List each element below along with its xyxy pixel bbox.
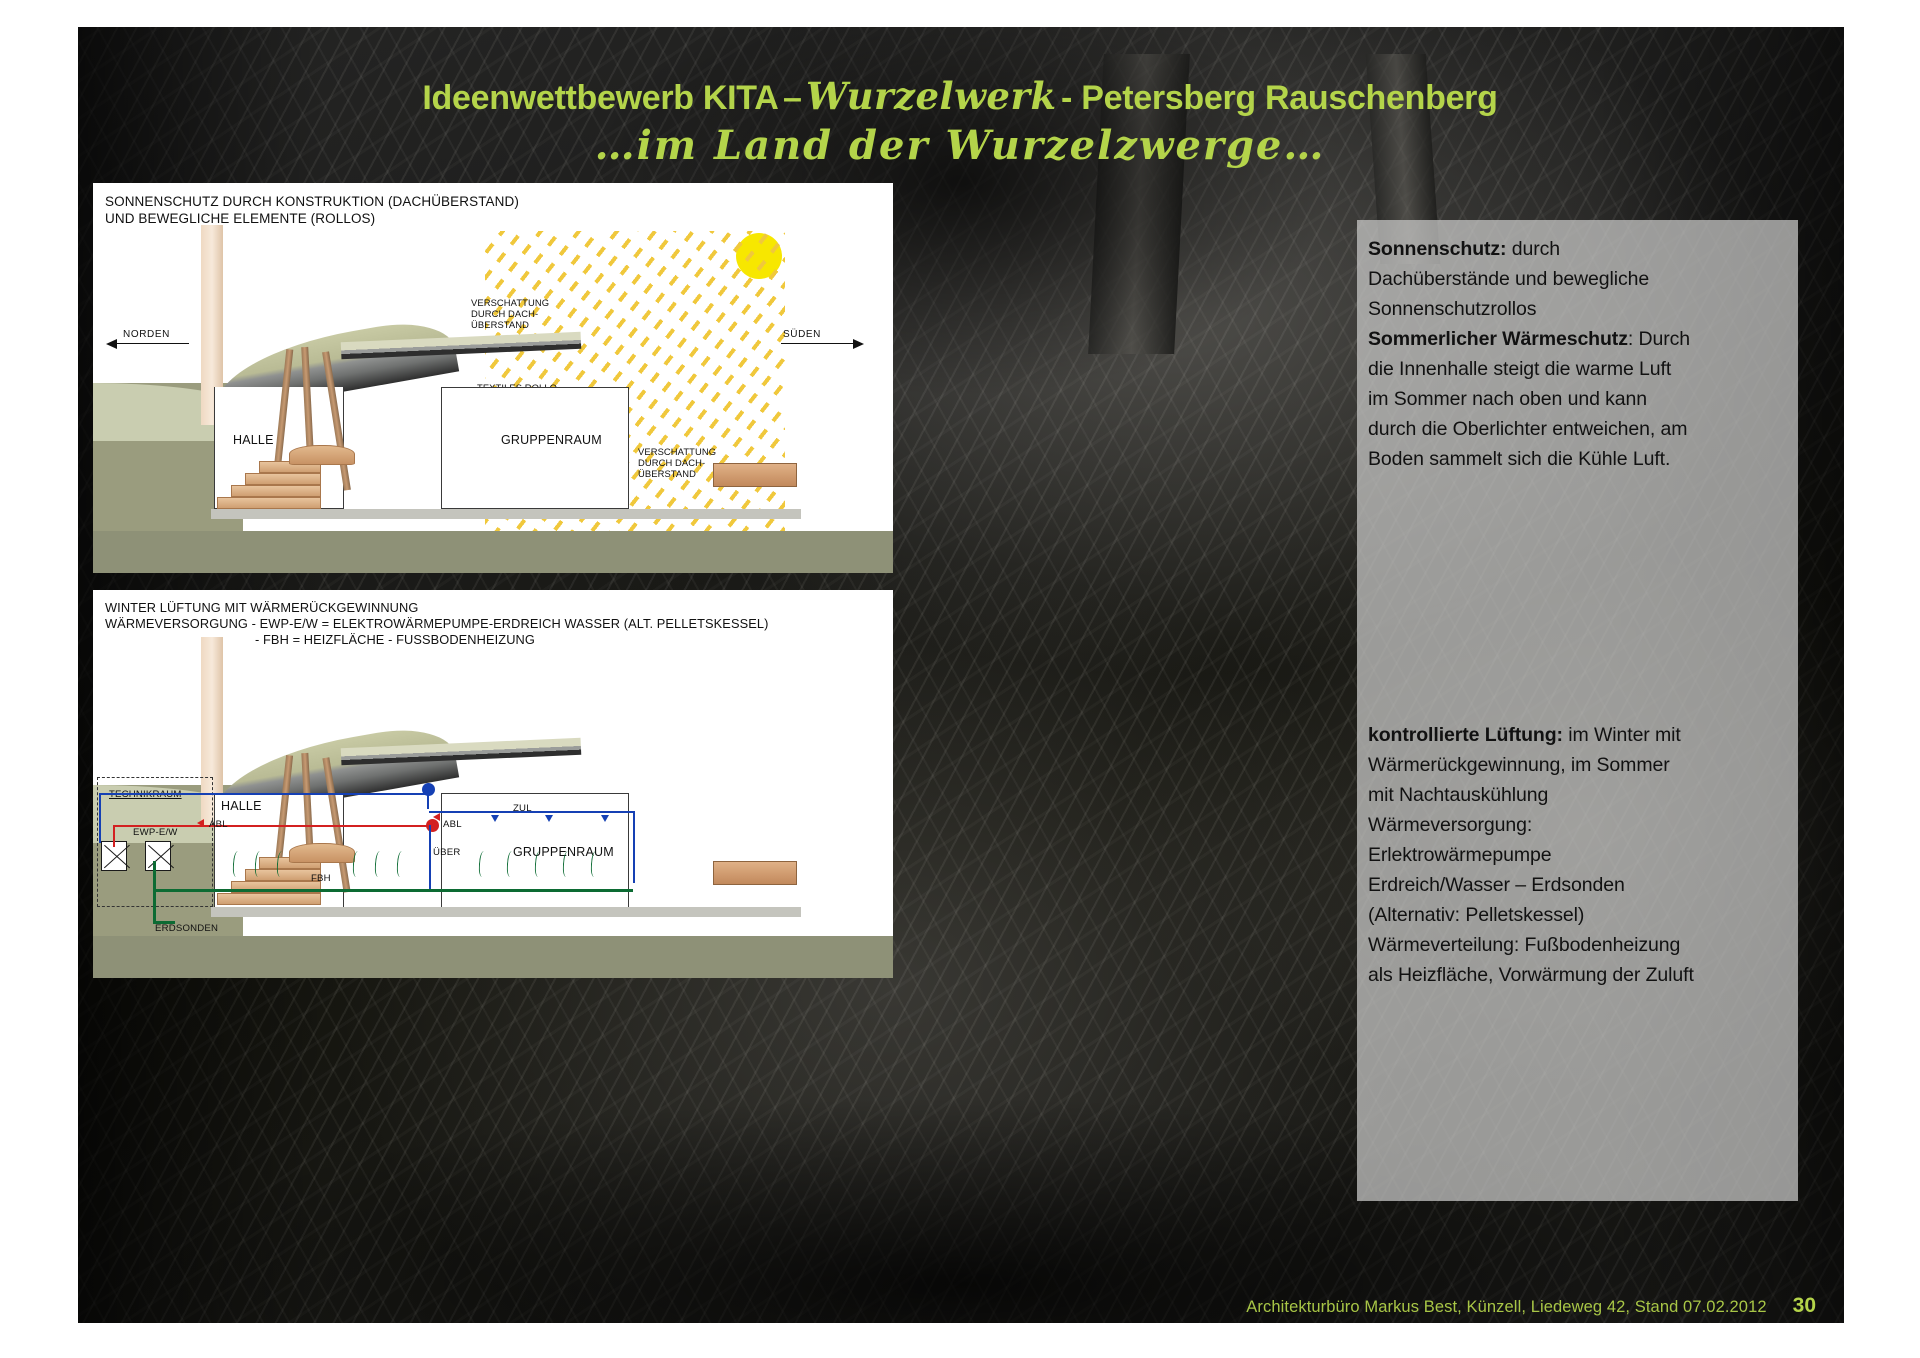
text-line: Sommerlicher Wärmeschutz: Durch	[1368, 324, 1798, 354]
compass-label-south: SÜDEN	[783, 329, 821, 340]
slide-title: Ideenwettbewerb KITA – Wurzelwerk - Pete…	[0, 74, 1920, 118]
text-line: mit Nachtauskühlung	[1368, 780, 1798, 810]
convection-squiggle-icon	[374, 851, 385, 877]
room-label-halle: HALLE	[221, 799, 262, 813]
outdoor-bench	[713, 463, 797, 487]
outdoor-bench	[713, 861, 797, 885]
title-main-part-1: Ideenwettbewerb KITA	[422, 79, 778, 117]
text-block-lueftung: kontrollierte Lüftung: im Winter mitWärm…	[1368, 720, 1798, 990]
text-block-sonnenschutz: Sonnenschutz: durchDachüberstände und be…	[1368, 234, 1798, 474]
diagram-bottom-heading-line-1: WINTER LÜFTUNG MIT WÄRMERÜCKGEWINNUNG	[105, 600, 418, 615]
subtitle-text: …im Land der Wurzelzwerge…	[595, 122, 1326, 169]
text-line: Sonnenschutz: durch	[1368, 234, 1798, 264]
pipe-supply-duct-top	[429, 811, 635, 813]
pipe-exhaust-vertical	[99, 793, 101, 843]
pipe-ground-loop-vertical	[153, 861, 156, 923]
label-fbh: FBH	[311, 873, 331, 884]
pipe-supply-duct-down	[633, 811, 635, 883]
diagram-bottom-heading-line-3: - FBH = HEIZFLÄCHE - FUSSBODENHEIZUNG	[105, 632, 535, 648]
text-line: Wärmeversorgung:	[1368, 810, 1798, 840]
ground-strip	[93, 531, 893, 573]
text-line: als Heizfläche, Vorwärmung der Zuluft	[1368, 960, 1798, 990]
ground-strip	[93, 936, 893, 978]
label-ewp: EWP-E/W	[133, 827, 178, 838]
heat-exchanger-unit-icon	[145, 841, 171, 871]
section-scene-bottom: HALLE GRUPPENRAUM TECHNIKRAUM EWP-E/W	[93, 785, 893, 978]
arrow-supply-down-icon	[601, 815, 609, 822]
text-line-emphasis: kontrollierte Lüftung:	[1368, 724, 1563, 746]
text-line: Erlektrowärmepumpe	[1368, 840, 1798, 870]
label-ueber: ÜBER	[433, 847, 460, 858]
title-main-part-2: - Petersberg Rauschenberg	[1061, 79, 1498, 117]
text-line: Wärmerückgewinnung, im Sommer	[1368, 750, 1798, 780]
label-zul: ZUL	[513, 803, 532, 814]
node-exhaust-point	[422, 783, 435, 796]
text-line: kontrollierte Lüftung: im Winter mit	[1368, 720, 1798, 750]
arrow-supply-down-icon	[545, 815, 553, 822]
south-arrow-icon	[781, 343, 853, 344]
pipe-heating-riser	[113, 825, 115, 847]
text-block-1-body: Sonnenschutz: durchDachüberstände und be…	[1368, 234, 1798, 474]
slide-root: Ideenwettbewerb KITA – Wurzelwerk - Pete…	[0, 0, 1920, 1358]
slide-subtitle: …im Land der Wurzelzwerge…	[0, 122, 1920, 169]
text-line-emphasis: Sonnenschutz:	[1368, 238, 1506, 260]
room-label-halle: HALLE	[233, 433, 274, 447]
label-shading-roof-overhang-left: VERSCHATTUNG DURCH DACH- ÜBERSTAND	[471, 297, 549, 330]
north-arrow-icon	[117, 343, 189, 344]
floor-slab	[211, 907, 801, 917]
play-deck	[289, 445, 355, 465]
text-line: Erdreich/Wasser – Erdsonden	[1368, 870, 1798, 900]
text-line: die Innenhalle steigt die warme Luft	[1368, 354, 1798, 384]
diagram-bottom-heading-line-2: WÄRMEVERSORGUNG - EWP-E/W = ELEKTROWÄRME…	[105, 616, 768, 631]
footer-credit: Architekturbüro Markus Best, Künzell, Li…	[1246, 1298, 1766, 1317]
text-line: Wärmeverteilung: Fußbodenheizung	[1368, 930, 1798, 960]
diagram-winter-ventilation-heating: WINTER LÜFTUNG MIT WÄRMERÜCKGEWINNUNGWÄR…	[93, 590, 893, 978]
convection-squiggle-icon	[396, 851, 407, 877]
pipe-exhaust-horizontal	[99, 793, 429, 795]
arrow-exhaust-left-icon	[197, 819, 204, 827]
pipe-heating-main	[113, 825, 433, 827]
text-line: Dachüberstände und bewegliche	[1368, 264, 1798, 294]
text-line: Boden sammelt sich die Kühle Luft.	[1368, 444, 1798, 474]
stairs-graphic	[217, 461, 327, 509]
play-deck	[289, 843, 355, 863]
title-script-word: Wurzelwerk	[806, 74, 1057, 118]
footer-page-number: 30	[1793, 1294, 1816, 1318]
label-abl-1: ABL	[209, 819, 228, 830]
arrow-supply-down-icon	[491, 815, 499, 822]
label-abl-2: ABL	[443, 819, 462, 830]
pipe-floor-heating-main	[153, 889, 633, 892]
text-line: Sonnenschutzrollos	[1368, 294, 1798, 324]
label-erdsonden: ERDSONDEN	[155, 923, 218, 934]
room-gruppenraum-volume	[441, 387, 629, 509]
arrow-return-left-icon	[433, 813, 440, 821]
text-line: (Alternativ: Pelletskessel)	[1368, 900, 1798, 930]
slide-footer: Architekturbüro Markus Best, Künzell, Li…	[1246, 1294, 1816, 1318]
text-line: durch die Oberlichter entweichen, am	[1368, 414, 1798, 444]
diagram-summer-sun-protection: SONNENSCHUTZ DURCH KONSTRUKTION (DACHÜBE…	[93, 183, 893, 573]
section-scene-top: HALLE GRUPPENRAUM	[93, 383, 893, 573]
pipe-transfer-riser	[429, 825, 431, 891]
compass-label-north: NORDEN	[123, 329, 170, 340]
title-dash: –	[783, 79, 802, 117]
text-block-2-body: kontrollierte Lüftung: im Winter mitWärm…	[1368, 720, 1798, 990]
room-label-gruppenraum: GRUPPENRAUM	[501, 433, 602, 447]
convection-squiggle-icon	[352, 851, 363, 877]
diagram-top-heading: SONNENSCHUTZ DURCH KONSTRUKTION (DACHÜBE…	[105, 193, 519, 227]
text-line: im Sommer nach oben und kann	[1368, 384, 1798, 414]
text-line-emphasis: Sommerlicher Wärmeschutz	[1368, 328, 1628, 350]
floor-slab	[211, 509, 801, 519]
